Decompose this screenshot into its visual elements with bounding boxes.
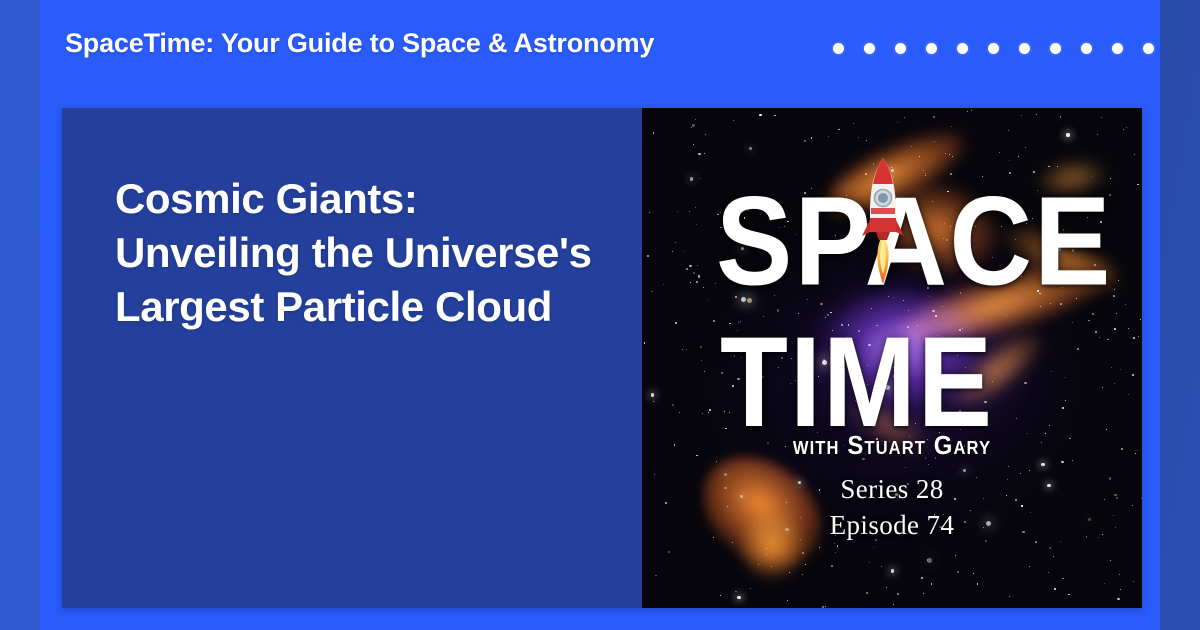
episode-title: Cosmic Giants: Unveiling the Universe's … bbox=[115, 172, 602, 333]
podcast-title: SpaceTime: Your Guide to Space & Astrono… bbox=[65, 28, 654, 59]
episode-card: Cosmic Giants: Unveiling the Universe's … bbox=[62, 108, 1142, 608]
dot-icon bbox=[864, 43, 875, 54]
dot-icon bbox=[1112, 43, 1123, 54]
header-bar: SpaceTime: Your Guide to Space & Astrono… bbox=[40, 0, 1160, 108]
page-background: SpaceTime: Your Guide to Space & Astrono… bbox=[0, 0, 1200, 630]
dot-icon bbox=[988, 43, 999, 54]
artwork-word-space: SPACE bbox=[716, 190, 1113, 294]
artwork-episode-label: Episode 74 bbox=[642, 510, 1142, 541]
dot-decoration bbox=[833, 43, 1154, 54]
dot-icon bbox=[833, 43, 844, 54]
dot-icon bbox=[1019, 43, 1030, 54]
artwork-series-label: Series 28 bbox=[642, 474, 1142, 505]
podcast-artwork: SPACE bbox=[642, 108, 1142, 608]
dot-icon bbox=[895, 43, 906, 54]
dot-icon bbox=[957, 43, 968, 54]
episode-text-panel: Cosmic Giants: Unveiling the Universe's … bbox=[62, 108, 642, 608]
rocket-icon bbox=[857, 156, 909, 286]
artwork-host-credit: with Stuart Gary bbox=[662, 430, 1122, 461]
dot-icon bbox=[1081, 43, 1092, 54]
dot-icon bbox=[1143, 43, 1154, 54]
artwork-word-time: TIME bbox=[720, 330, 994, 435]
dot-icon bbox=[1050, 43, 1061, 54]
dot-icon bbox=[926, 43, 937, 54]
